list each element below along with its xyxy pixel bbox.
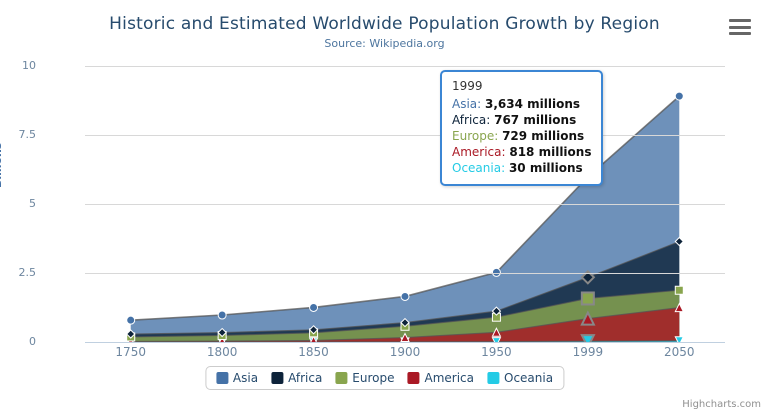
menu-bar (729, 26, 751, 29)
tooltip: 1999 Asia: 3,634 millionsAfrica: 767 mil… (440, 70, 603, 186)
x-tick-label: 1950 (466, 345, 526, 359)
tooltip-row-africa: Africa: 767 millions (452, 112, 591, 128)
point-europe-2050[interactable] (675, 286, 683, 294)
hamburger-menu-icon[interactable] (729, 19, 751, 35)
legend-swatch-icon (408, 372, 420, 384)
y-tick-label: 10 (0, 59, 36, 72)
legend-item-europe[interactable]: Europe (335, 371, 394, 385)
legend-swatch-icon (271, 372, 283, 384)
legend-label: Africa (288, 371, 322, 385)
legend-item-asia[interactable]: Asia (216, 371, 258, 385)
point-asia-1900[interactable] (401, 292, 409, 300)
x-tick-label: 1850 (284, 345, 344, 359)
menu-bar (729, 19, 751, 22)
legend-item-america[interactable]: America (408, 371, 475, 385)
highcharts-container: Historic and Estimated Worldwide Populat… (0, 0, 769, 416)
legend-label: America (425, 371, 475, 385)
point-oceania-1999[interactable] (582, 335, 594, 342)
point-europe-1999[interactable] (582, 292, 594, 304)
page-title: Historic and Estimated Worldwide Populat… (0, 14, 769, 34)
legend-label: Oceania (504, 371, 553, 385)
y-tick-label: 0 (0, 335, 36, 348)
tooltip-series-value: 818 millions (509, 145, 591, 159)
y-axis-title: Billions (0, 143, 4, 188)
tooltip-series-value: 30 millions (509, 161, 583, 175)
x-tick-label: 1800 (192, 345, 252, 359)
chart-subtitle: Source: Wikipedia.org (0, 37, 769, 50)
tooltip-series-value: 729 millions (502, 129, 584, 143)
y-tick-label: 5 (0, 197, 36, 210)
tooltip-series-name: Asia: (452, 97, 485, 111)
legend-items: AsiaAfricaEuropeAmericaOceania (216, 371, 553, 385)
x-axis-line (85, 342, 725, 343)
legend-swatch-icon (216, 372, 228, 384)
tooltip-row-america: America: 818 millions (452, 144, 591, 160)
point-asia-1800[interactable] (218, 311, 226, 319)
tooltip-series-name: America: (452, 145, 509, 159)
tooltip-rows: Asia: 3,634 millionsAfrica: 767 millions… (452, 96, 591, 176)
menu-bar (729, 32, 751, 35)
x-tick-label: 1750 (101, 345, 161, 359)
point-asia-2050[interactable] (675, 92, 683, 100)
tooltip-row-oceania: Oceania: 30 millions (452, 160, 591, 176)
legend-swatch-icon (335, 372, 347, 384)
point-asia-1750[interactable] (127, 316, 135, 324)
legend-label: Asia (233, 371, 258, 385)
y-tick-label: 2.5 (0, 266, 36, 279)
gridline (85, 135, 725, 136)
gridline (85, 273, 725, 274)
tooltip-header: 1999 (452, 79, 591, 93)
tooltip-series-value: 3,634 millions (485, 97, 580, 111)
x-tick-label: 1999 (558, 345, 618, 359)
legend-item-africa[interactable]: Africa (271, 371, 322, 385)
gridline (85, 66, 725, 67)
legend: AsiaAfricaEuropeAmericaOceania (205, 366, 564, 390)
highcharts-credit[interactable]: Highcharts.com (682, 399, 761, 410)
tooltip-series-value: 767 millions (494, 113, 576, 127)
tooltip-row-europe: Europe: 729 millions (452, 128, 591, 144)
point-asia-1850[interactable] (310, 303, 318, 311)
legend-item-oceania[interactable]: Oceania (487, 371, 553, 385)
legend-label: Europe (352, 371, 394, 385)
x-tick-label: 2050 (649, 345, 709, 359)
tooltip-row-asia: Asia: 3,634 millions (452, 96, 591, 112)
tooltip-series-name: Africa: (452, 113, 494, 127)
gridline (85, 204, 725, 205)
plot-area (85, 66, 725, 342)
tooltip-series-name: Europe: (452, 129, 502, 143)
legend-swatch-icon (487, 372, 499, 384)
tooltip-series-name: Oceania: (452, 161, 509, 175)
x-tick-label: 1900 (375, 345, 435, 359)
y-tick-label: 7.5 (0, 128, 36, 141)
